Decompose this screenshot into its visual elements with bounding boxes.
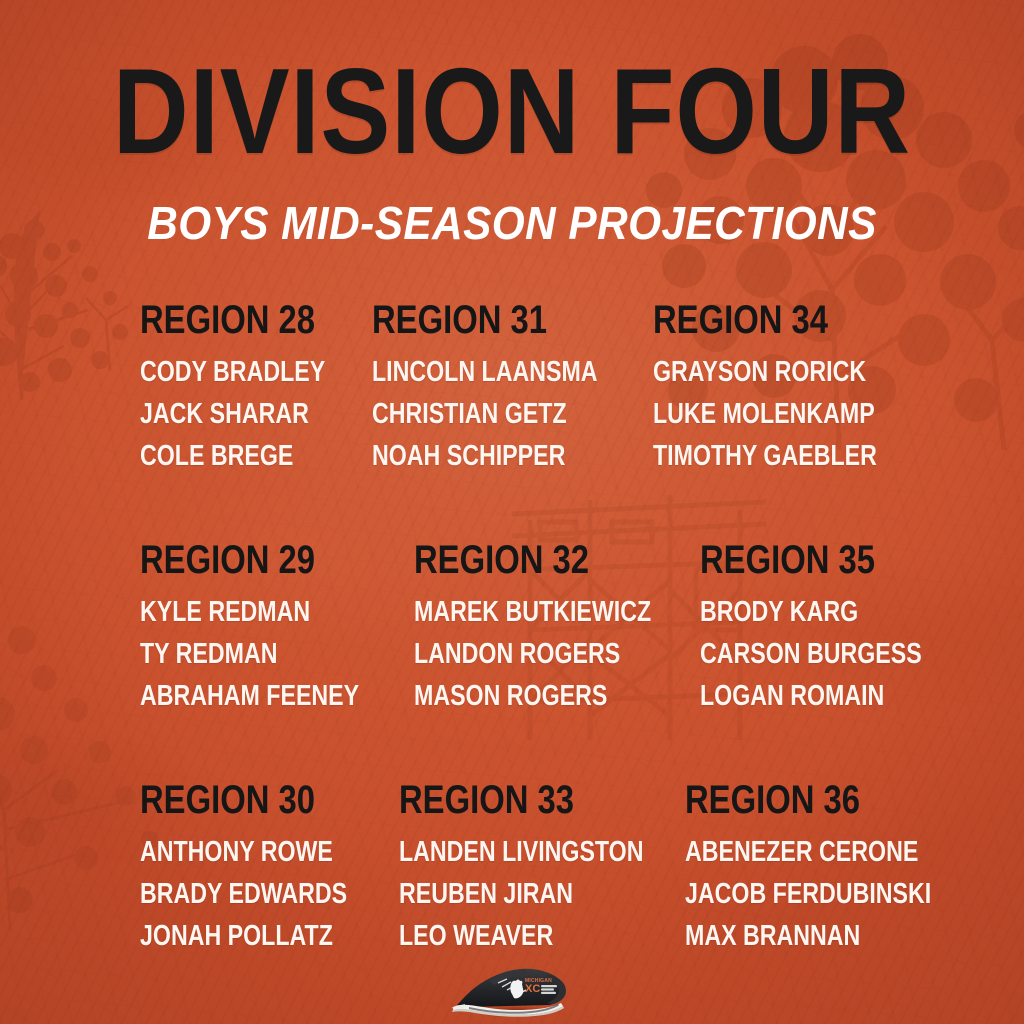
athlete-name: JACK SHARAR: [140, 400, 325, 429]
region-card-30: REGION 30 ANTHONY ROWE BRADY EDWARDS JON…: [140, 780, 399, 964]
region-card-31: REGION 31 LINCOLN LAANSMA CHRISTIAN GETZ…: [372, 300, 654, 484]
poster-content: DIVISION FOUR BOYS MID-SEASON PROJECTION…: [0, 0, 1024, 1024]
page-title: DIVISION FOUR: [72, 52, 953, 172]
athlete-name: LANDEN LIVINGSTON: [399, 838, 628, 867]
athlete-name: CODY BRADLEY: [140, 358, 325, 387]
region-title: REGION 36: [685, 780, 920, 820]
athlete-name: ANTHONY ROWE: [140, 838, 347, 867]
region-title: REGION 32: [414, 540, 649, 580]
athlete-name: JACOB FERDUBINSKI: [685, 880, 914, 909]
michigan-xc-shoe-logo-icon: MICHIGAN XC: [449, 955, 575, 1017]
athlete-name: MAREK BUTKIEWICZ: [414, 598, 643, 627]
region-title: REGION 30: [140, 780, 352, 820]
row-spacer: [140, 484, 908, 540]
regions-row: REGION 29 KYLE REDMAN TY REDMAN ABRAHAM …: [140, 540, 908, 724]
athlete-name: LOGAN ROMAIN: [700, 682, 922, 711]
athlete-name: TY REDMAN: [140, 640, 359, 669]
region-card-34: REGION 34 GRAYSON RORICK LUKE MOLENKAMP …: [653, 300, 933, 484]
athlete-name: REUBEN JIRAN: [399, 880, 628, 909]
region-card-28: REGION 28 CODY BRADLEY JACK SHARAR COLE …: [140, 300, 372, 484]
athlete-name: CARSON BURGESS: [700, 640, 922, 669]
athlete-name: ABENEZER CERONE: [685, 838, 914, 867]
regions-grid: REGION 28 CODY BRADLEY JACK SHARAR COLE …: [140, 300, 908, 964]
region-card-32: REGION 32 MAREK BUTKIEWICZ LANDON ROGERS…: [414, 540, 700, 724]
athlete-name: KYLE REDMAN: [140, 598, 359, 627]
athlete-name: GRAYSON RORICK: [653, 358, 877, 387]
athlete-name: LINCOLN LAANSMA: [372, 358, 598, 387]
athlete-name: MAX BRANNAN: [685, 922, 914, 951]
athlete-name: ABRAHAM FEENEY: [140, 682, 359, 711]
regions-row: REGION 30 ANTHONY ROWE BRADY EDWARDS JON…: [140, 780, 908, 964]
athlete-name: COLE BREGE: [140, 442, 325, 471]
athlete-name: TIMOTHY GAEBLER: [653, 442, 877, 471]
row-spacer: [140, 724, 908, 780]
region-title: REGION 35: [700, 540, 927, 580]
athlete-name: MASON ROGERS: [414, 682, 643, 711]
region-title: REGION 31: [372, 300, 603, 340]
regions-row: REGION 28 CODY BRADLEY JACK SHARAR COLE …: [140, 300, 908, 484]
athlete-name: BRADY EDWARDS: [140, 880, 347, 909]
athlete-name: BRODY KARG: [700, 598, 922, 627]
athlete-name: NOAH SCHIPPER: [372, 442, 598, 471]
athlete-name: LANDON ROGERS: [414, 640, 643, 669]
logo-text-xc: XC: [525, 983, 540, 995]
region-title: REGION 29: [140, 540, 365, 580]
athlete-name: CHRISTIAN GETZ: [372, 400, 598, 429]
athlete-name: LEO WEAVER: [399, 922, 628, 951]
region-card-29: REGION 29 KYLE REDMAN TY REDMAN ABRAHAM …: [140, 540, 414, 724]
page-subtitle: BOYS MID-SEASON PROJECTIONS: [41, 200, 983, 246]
region-title: REGION 28: [140, 300, 330, 340]
athlete-name: JONAH POLLATZ: [140, 922, 347, 951]
athlete-name: LUKE MOLENKAMP: [653, 400, 877, 429]
region-card-35: REGION 35 BRODY KARG CARSON BURGESS LOGA…: [700, 540, 977, 724]
region-title: REGION 34: [653, 300, 882, 340]
region-card-33: REGION 33 LANDEN LIVINGSTON REUBEN JIRAN…: [399, 780, 685, 964]
region-title: REGION 33: [399, 780, 634, 820]
region-card-36: REGION 36 ABENEZER CERONE JACOB FERDUBIN…: [685, 780, 971, 964]
